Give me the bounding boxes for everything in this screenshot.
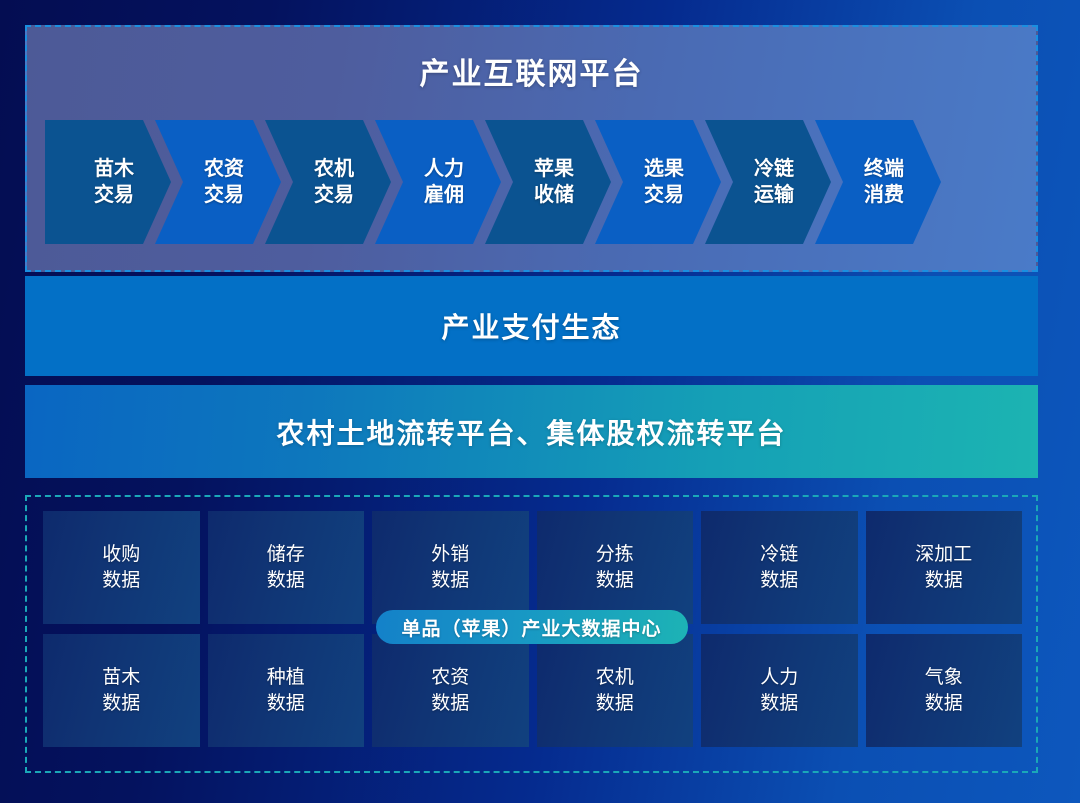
data-card[interactable]: 人力 数据: [701, 634, 858, 747]
chevron-step-6[interactable]: 选果 交易: [595, 120, 721, 244]
chevron-step-5[interactable]: 苹果 收储: [485, 120, 611, 244]
data-card[interactable]: 农资 数据: [372, 634, 529, 747]
data-card[interactable]: 分拣 数据: [537, 511, 694, 624]
chevron-step-label: 冷链 运输: [754, 156, 794, 207]
data-card-row-top: 收购 数据储存 数据外销 数据分拣 数据冷链 数据深加工 数据: [43, 511, 1022, 624]
chevron-step-3[interactable]: 农机 交易: [265, 120, 391, 244]
data-card[interactable]: 收购 数据: [43, 511, 200, 624]
big-data-center-badge: 单品（苹果）产业大数据中心: [375, 610, 687, 644]
data-card-label: 储存 数据: [267, 542, 305, 593]
data-card[interactable]: 外销 数据: [372, 511, 529, 624]
payment-ecosystem-band: 产业支付生态: [25, 276, 1038, 376]
land-transfer-platform-label: 农村土地流转平台、集体股权流转平台: [276, 412, 786, 452]
data-card-row-bottom: 苗木 数据种植 数据农资 数据农机 数据人力 数据气象 数据: [43, 634, 1022, 747]
data-card-label: 农机 数据: [596, 665, 634, 716]
data-card[interactable]: 储存 数据: [208, 511, 365, 624]
data-card-label: 种植 数据: [267, 665, 305, 716]
data-card[interactable]: 气象 数据: [866, 634, 1023, 747]
chevron-step-label: 苹果 收储: [534, 156, 574, 207]
chevron-step-label: 苗木 交易: [94, 156, 134, 207]
chevron-step-4[interactable]: 人力 雇佣: [375, 120, 501, 244]
chevron-step-8[interactable]: 终端 消费: [815, 120, 941, 244]
data-card-label: 分拣 数据: [596, 542, 634, 593]
data-card-label: 深加工 数据: [915, 542, 972, 593]
chevron-step-label: 农机 交易: [314, 156, 354, 207]
chevron-step-label: 农资 交易: [204, 156, 244, 207]
big-data-center-section: 收购 数据储存 数据外销 数据分拣 数据冷链 数据深加工 数据 苗木 数据种植 …: [25, 495, 1038, 773]
page-title: 产业互联网平台: [27, 49, 1036, 93]
data-card-label: 外销 数据: [431, 542, 469, 593]
payment-ecosystem-label: 产业支付生态: [441, 306, 621, 346]
data-card[interactable]: 苗木 数据: [43, 634, 200, 747]
data-card-label: 苗木 数据: [102, 665, 140, 716]
data-card-label: 冷链 数据: [760, 542, 798, 593]
chevron-step-label: 人力 雇佣: [424, 156, 464, 207]
industrial-internet-platform-panel: 产业互联网平台 苗木 交易农资 交易农机 交易人力 雇佣苹果 收储选果 交易冷链…: [25, 25, 1038, 272]
data-card-label: 气象 数据: [925, 665, 963, 716]
data-card-label: 农资 数据: [431, 665, 469, 716]
data-card[interactable]: 冷链 数据: [701, 511, 858, 624]
chevron-step-1[interactable]: 苗木 交易: [45, 120, 171, 244]
data-card-label: 人力 数据: [760, 665, 798, 716]
data-card[interactable]: 深加工 数据: [866, 511, 1023, 624]
value-chain-chevron-row: 苗木 交易农资 交易农机 交易人力 雇佣苹果 收储选果 交易冷链 运输终端 消费: [45, 120, 1025, 244]
chevron-step-label: 终端 消费: [864, 156, 904, 207]
chevron-step-2[interactable]: 农资 交易: [155, 120, 281, 244]
big-data-center-badge-label: 单品（苹果）产业大数据中心: [401, 614, 661, 641]
chevron-step-7[interactable]: 冷链 运输: [705, 120, 831, 244]
data-card-label: 收购 数据: [102, 542, 140, 593]
data-card[interactable]: 农机 数据: [537, 634, 694, 747]
land-transfer-platform-band: 农村土地流转平台、集体股权流转平台: [25, 385, 1038, 478]
chevron-step-label: 选果 交易: [644, 156, 684, 207]
data-card[interactable]: 种植 数据: [208, 634, 365, 747]
